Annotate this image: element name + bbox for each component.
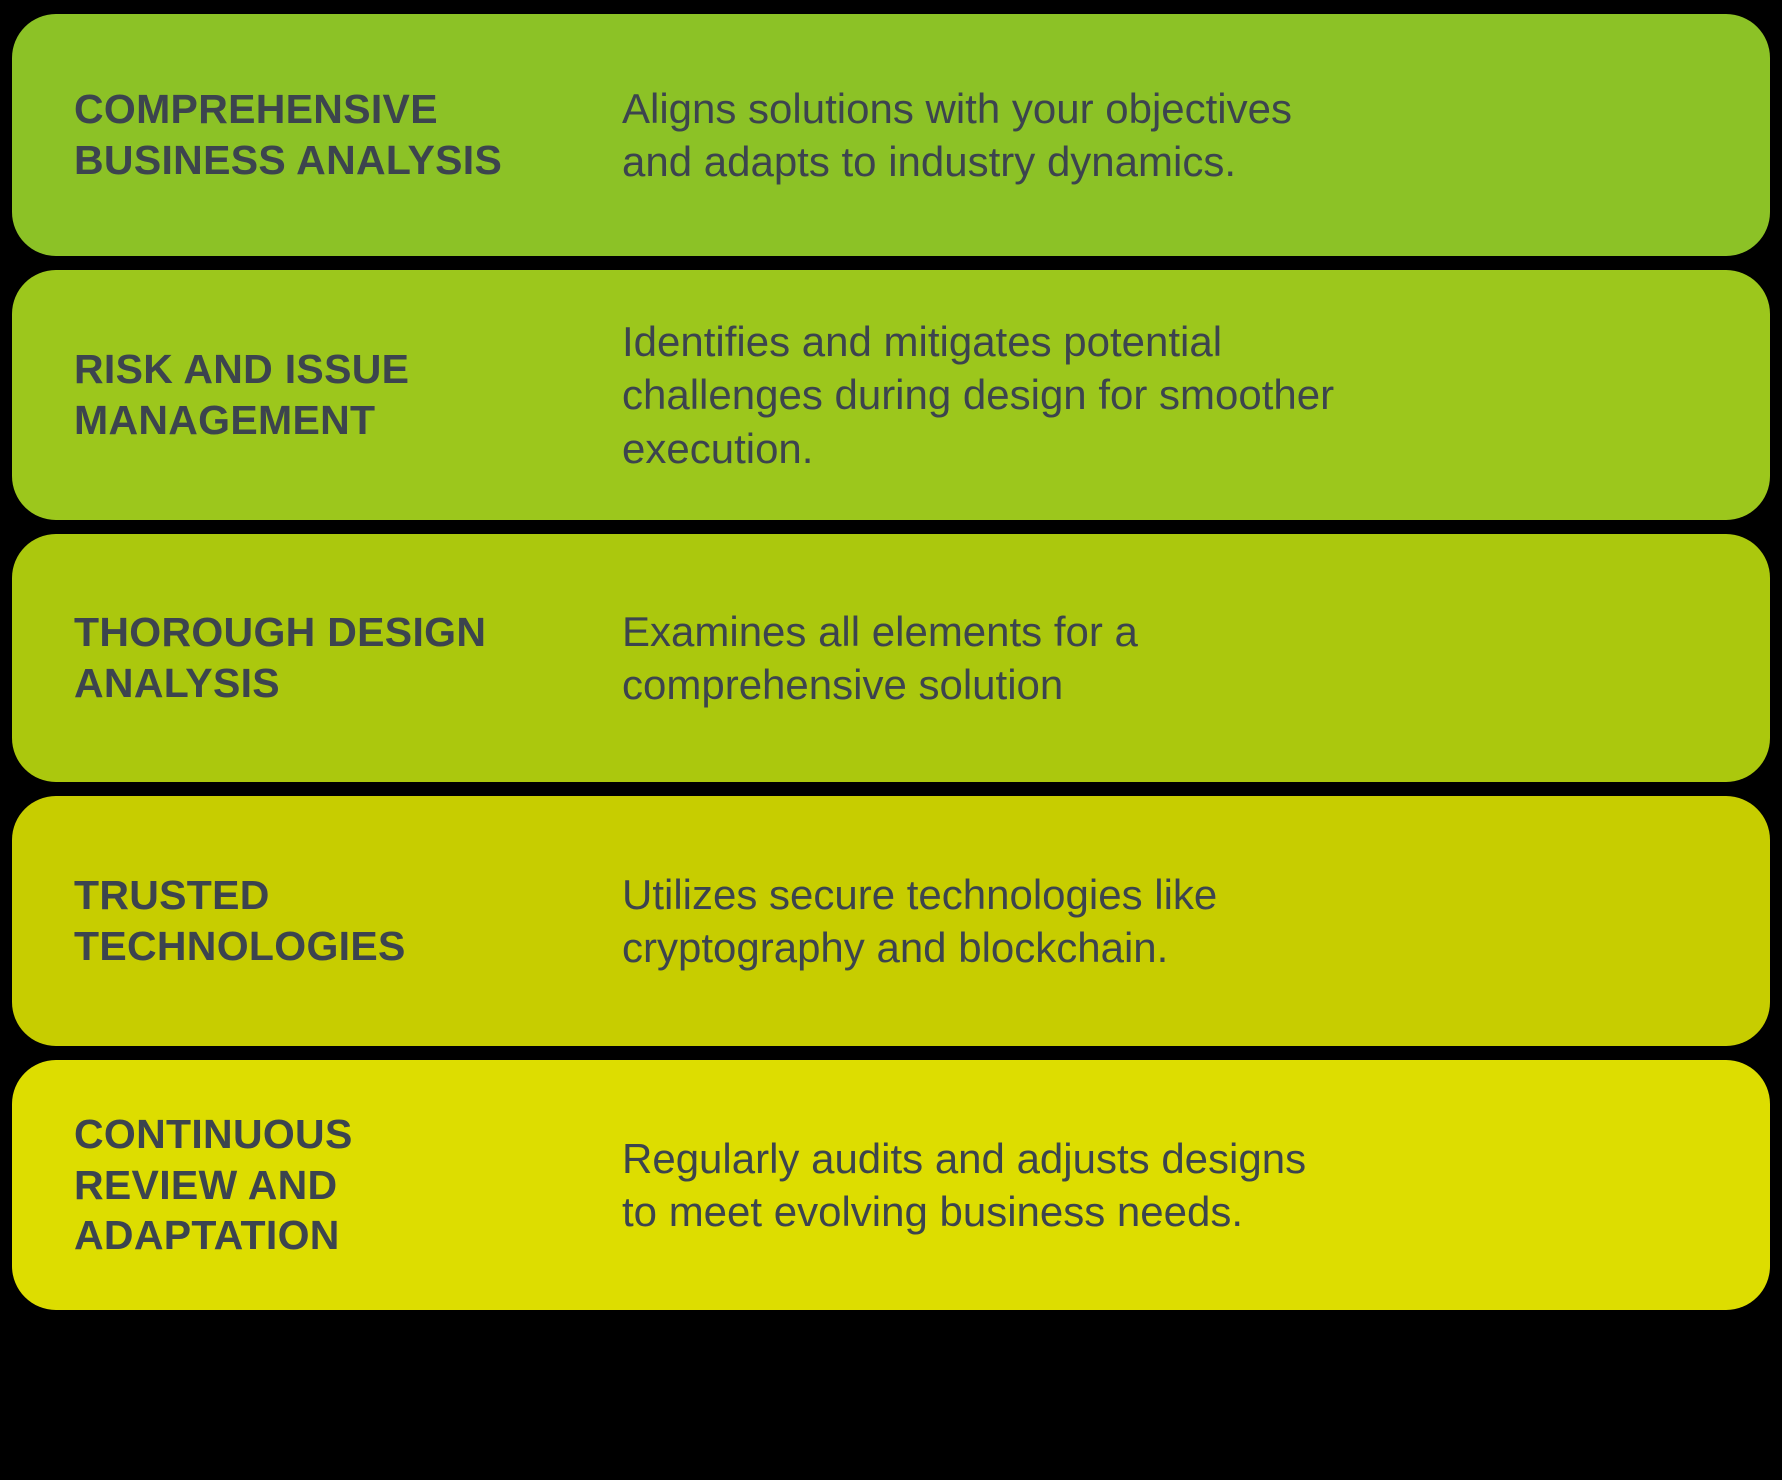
benefit-description: Examines all elements for a comprehensiv… <box>622 605 1720 712</box>
benefits-card-stack: COMPREHENSIVE BUSINESS ANALYSIS Aligns s… <box>0 0 1782 1480</box>
benefit-description: Utilizes secure technologies like crypto… <box>622 868 1720 975</box>
benefit-title: RISK AND ISSUE MANAGEMENT <box>74 344 608 446</box>
benefit-title: TRUSTED TECHNOLOGIES <box>74 870 608 972</box>
benefit-card-thorough-design-analysis: THOROUGH DESIGN ANALYSIS Examines all el… <box>12 534 1770 782</box>
benefit-description: Identifies and mitigates potential chall… <box>622 315 1720 475</box>
benefit-title-cell: RISK AND ISSUE MANAGEMENT <box>12 344 622 446</box>
benefit-card-risk-and-issue-management: RISK AND ISSUE MANAGEMENT Identifies and… <box>12 270 1770 520</box>
benefit-description: Aligns solutions with your objectives an… <box>622 82 1720 189</box>
benefit-title-cell: TRUSTED TECHNOLOGIES <box>12 870 622 972</box>
benefit-title-cell: CONTINUOUS REVIEW AND ADAPTATION <box>12 1109 622 1261</box>
benefit-description-cell: Identifies and mitigates potential chall… <box>622 315 1770 475</box>
benefit-title: COMPREHENSIVE BUSINESS ANALYSIS <box>74 84 608 186</box>
benefit-title-cell: THOROUGH DESIGN ANALYSIS <box>12 607 622 709</box>
benefit-description-cell: Aligns solutions with your objectives an… <box>622 82 1770 189</box>
benefit-card-trusted-technologies: TRUSTED TECHNOLOGIES Utilizes secure tec… <box>12 796 1770 1046</box>
benefit-description: Regularly audits and adjusts designs to … <box>622 1132 1720 1239</box>
benefit-description-cell: Utilizes secure technologies like crypto… <box>622 868 1770 975</box>
benefit-card-comprehensive-business-analysis: COMPREHENSIVE BUSINESS ANALYSIS Aligns s… <box>12 14 1770 256</box>
benefit-title: CONTINUOUS REVIEW AND ADAPTATION <box>74 1109 608 1261</box>
benefit-description-cell: Examines all elements for a comprehensiv… <box>622 605 1770 712</box>
benefit-description-cell: Regularly audits and adjusts designs to … <box>622 1132 1770 1239</box>
benefit-card-continuous-review-and-adaptation: CONTINUOUS REVIEW AND ADAPTATION Regular… <box>12 1060 1770 1310</box>
benefit-title: THOROUGH DESIGN ANALYSIS <box>74 607 608 709</box>
benefit-title-cell: COMPREHENSIVE BUSINESS ANALYSIS <box>12 84 622 186</box>
